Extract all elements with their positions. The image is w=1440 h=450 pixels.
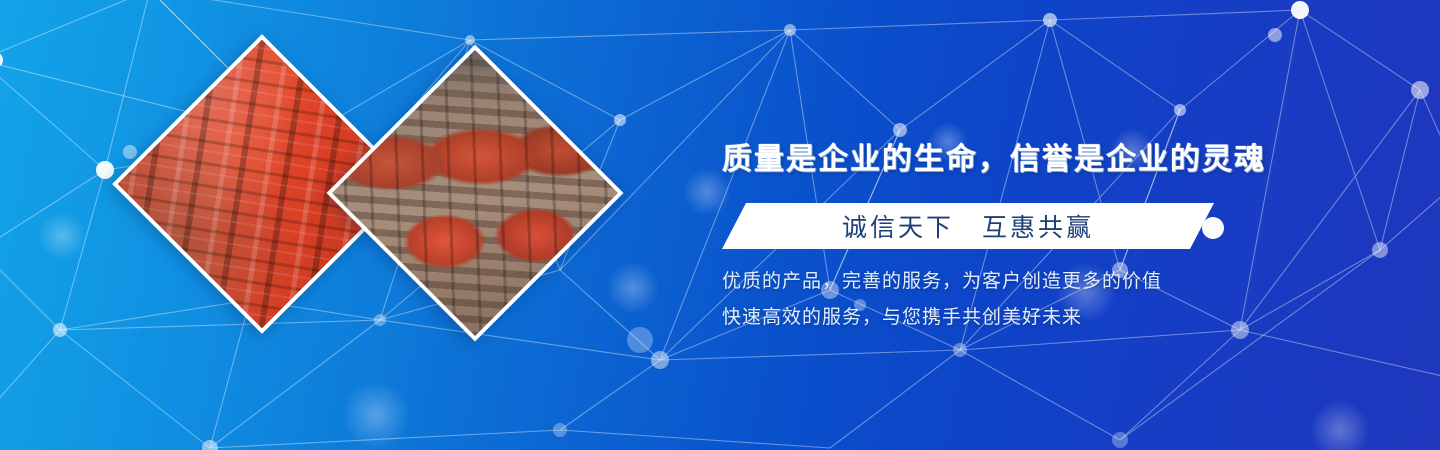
banner-subline-2: 快速高效的服务，与您携手共创美好未来 <box>722 302 1082 329</box>
banner-subline-1: 优质的产品，完善的服务，为客户创造更多的价值 <box>722 266 1162 293</box>
product-image-drive-shafts-fill <box>327 45 624 342</box>
slogan-ribbon-text: 诚信天下 互惠共赢 <box>722 203 1214 249</box>
promo-banner: 质量是企业的生命，信誉是企业的灵魂 诚信天下 互惠共赢 优质的产品，完善的服务，… <box>0 0 1440 450</box>
banner-headline: 质量是企业的生命，信誉是企业的灵魂 <box>722 138 1242 182</box>
slogan-ribbon: 诚信天下 互惠共赢 <box>722 203 1214 249</box>
product-image-drive-shafts <box>327 45 624 342</box>
